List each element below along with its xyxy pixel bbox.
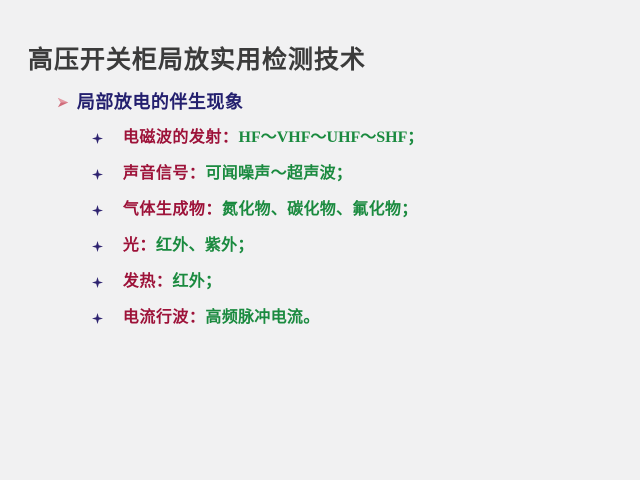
- list-item-term: 电磁波的发射：: [123, 129, 239, 146]
- list-item: 光：红外、紫外；: [92, 235, 612, 271]
- list-item-value: 高频脉冲电流。: [206, 309, 320, 326]
- list-item-text: 光：红外、紫外；: [123, 235, 254, 256]
- diamond-bullet-icon: [92, 169, 103, 180]
- list-item-term: 发热：: [123, 273, 173, 290]
- diamond-bullet-icon: [92, 205, 103, 216]
- list-item-term: 气体生成物：: [123, 201, 222, 218]
- list-item-term: 电流行波：: [123, 309, 206, 326]
- list-item-text: 气体生成物：氮化物、碳化物、氟化物；: [123, 199, 418, 220]
- list-item-text: 电磁波的发射：HF～VHF～UHF～SHF；: [123, 127, 423, 148]
- list-item: 气体生成物：氮化物、碳化物、氟化物；: [92, 199, 612, 235]
- list-item-term: 光：: [123, 237, 156, 254]
- arrow-right-bullet-icon: [56, 95, 71, 110]
- list-item: 发热：红外；: [92, 271, 612, 307]
- list-item-text: 声音信号：可闻噪声～超声波；: [123, 163, 352, 184]
- list-item-value: 可闻噪声～超声波；: [206, 165, 353, 182]
- subheading-label: 局部放电的伴生现象: [77, 91, 244, 113]
- list-item: 电磁波的发射：HF～VHF～UHF～SHF；: [92, 127, 612, 163]
- diamond-bullet-icon: [92, 313, 103, 324]
- diamond-bullet-icon: [92, 133, 103, 144]
- page-title: 高压开关柜局放实用检测技术: [28, 44, 366, 76]
- list-item-text: 发热：红外；: [123, 271, 221, 292]
- diamond-bullet-icon: [92, 277, 103, 288]
- list-item: 电流行波：高频脉冲电流。: [92, 307, 612, 343]
- diamond-bullet-icon: [92, 241, 103, 252]
- list-item-text: 电流行波：高频脉冲电流。: [123, 307, 320, 328]
- list-item-value: 氮化物、碳化物、氟化物；: [222, 201, 418, 218]
- list-item-value: HF～VHF～UHF～SHF；: [239, 129, 424, 146]
- subheading: 局部放电的伴生现象: [56, 91, 244, 113]
- bullet-list: 电磁波的发射：HF～VHF～UHF～SHF；声音信号：可闻噪声～超声波；气体生成…: [92, 127, 612, 343]
- list-item-term: 声音信号：: [123, 165, 206, 182]
- list-item-value: 红外；: [173, 273, 222, 290]
- slide-canvas: 高压开关柜局放实用检测技术 局部放电的伴生现象 电磁波的发射：HF～VHF～UH…: [0, 0, 640, 480]
- list-item-value: 红外、紫外；: [156, 237, 254, 254]
- list-item: 声音信号：可闻噪声～超声波；: [92, 163, 612, 199]
